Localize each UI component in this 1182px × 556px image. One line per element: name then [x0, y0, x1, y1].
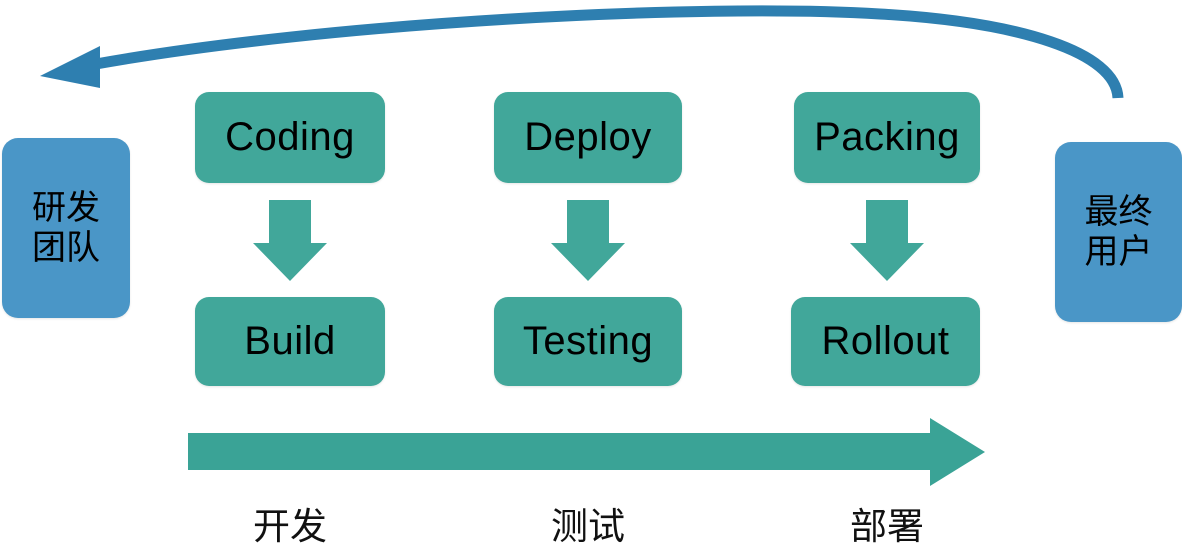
stage-label-deploy: 部署 [787, 496, 987, 550]
arrow-layer [0, 0, 1182, 556]
end-users-line-1: 最终 [1085, 192, 1153, 232]
dev-team-line-2: 团队 [32, 228, 100, 268]
node-testing[interactable]: Testing [494, 297, 682, 386]
endpoint-dev-team[interactable]: 研发 团队 [2, 138, 130, 318]
diagram-canvas: 研发 团队 最终 用户 Coding Build 开发 Deploy Testi… [0, 0, 1182, 556]
down-arrow-coding-to-build-icon [253, 200, 327, 281]
stage-label-test: 测试 [488, 496, 688, 550]
node-coding[interactable]: Coding [195, 92, 385, 183]
down-arrow-deploy-to-testing-icon [551, 200, 625, 281]
stage-label-dev: 开发 [190, 496, 390, 550]
node-deploy[interactable]: Deploy [494, 92, 682, 183]
node-packing[interactable]: Packing [794, 92, 980, 183]
progress-arrow-icon [188, 418, 985, 486]
down-arrow-packing-to-rollout-icon [850, 200, 924, 281]
endpoint-end-users[interactable]: 最终 用户 [1055, 142, 1182, 322]
node-build[interactable]: Build [195, 297, 385, 386]
node-rollout[interactable]: Rollout [791, 297, 980, 386]
feedback-curved-arrow-icon [40, 11, 1118, 98]
end-users-line-2: 用户 [1085, 232, 1153, 272]
dev-team-line-1: 研发 [32, 188, 100, 228]
